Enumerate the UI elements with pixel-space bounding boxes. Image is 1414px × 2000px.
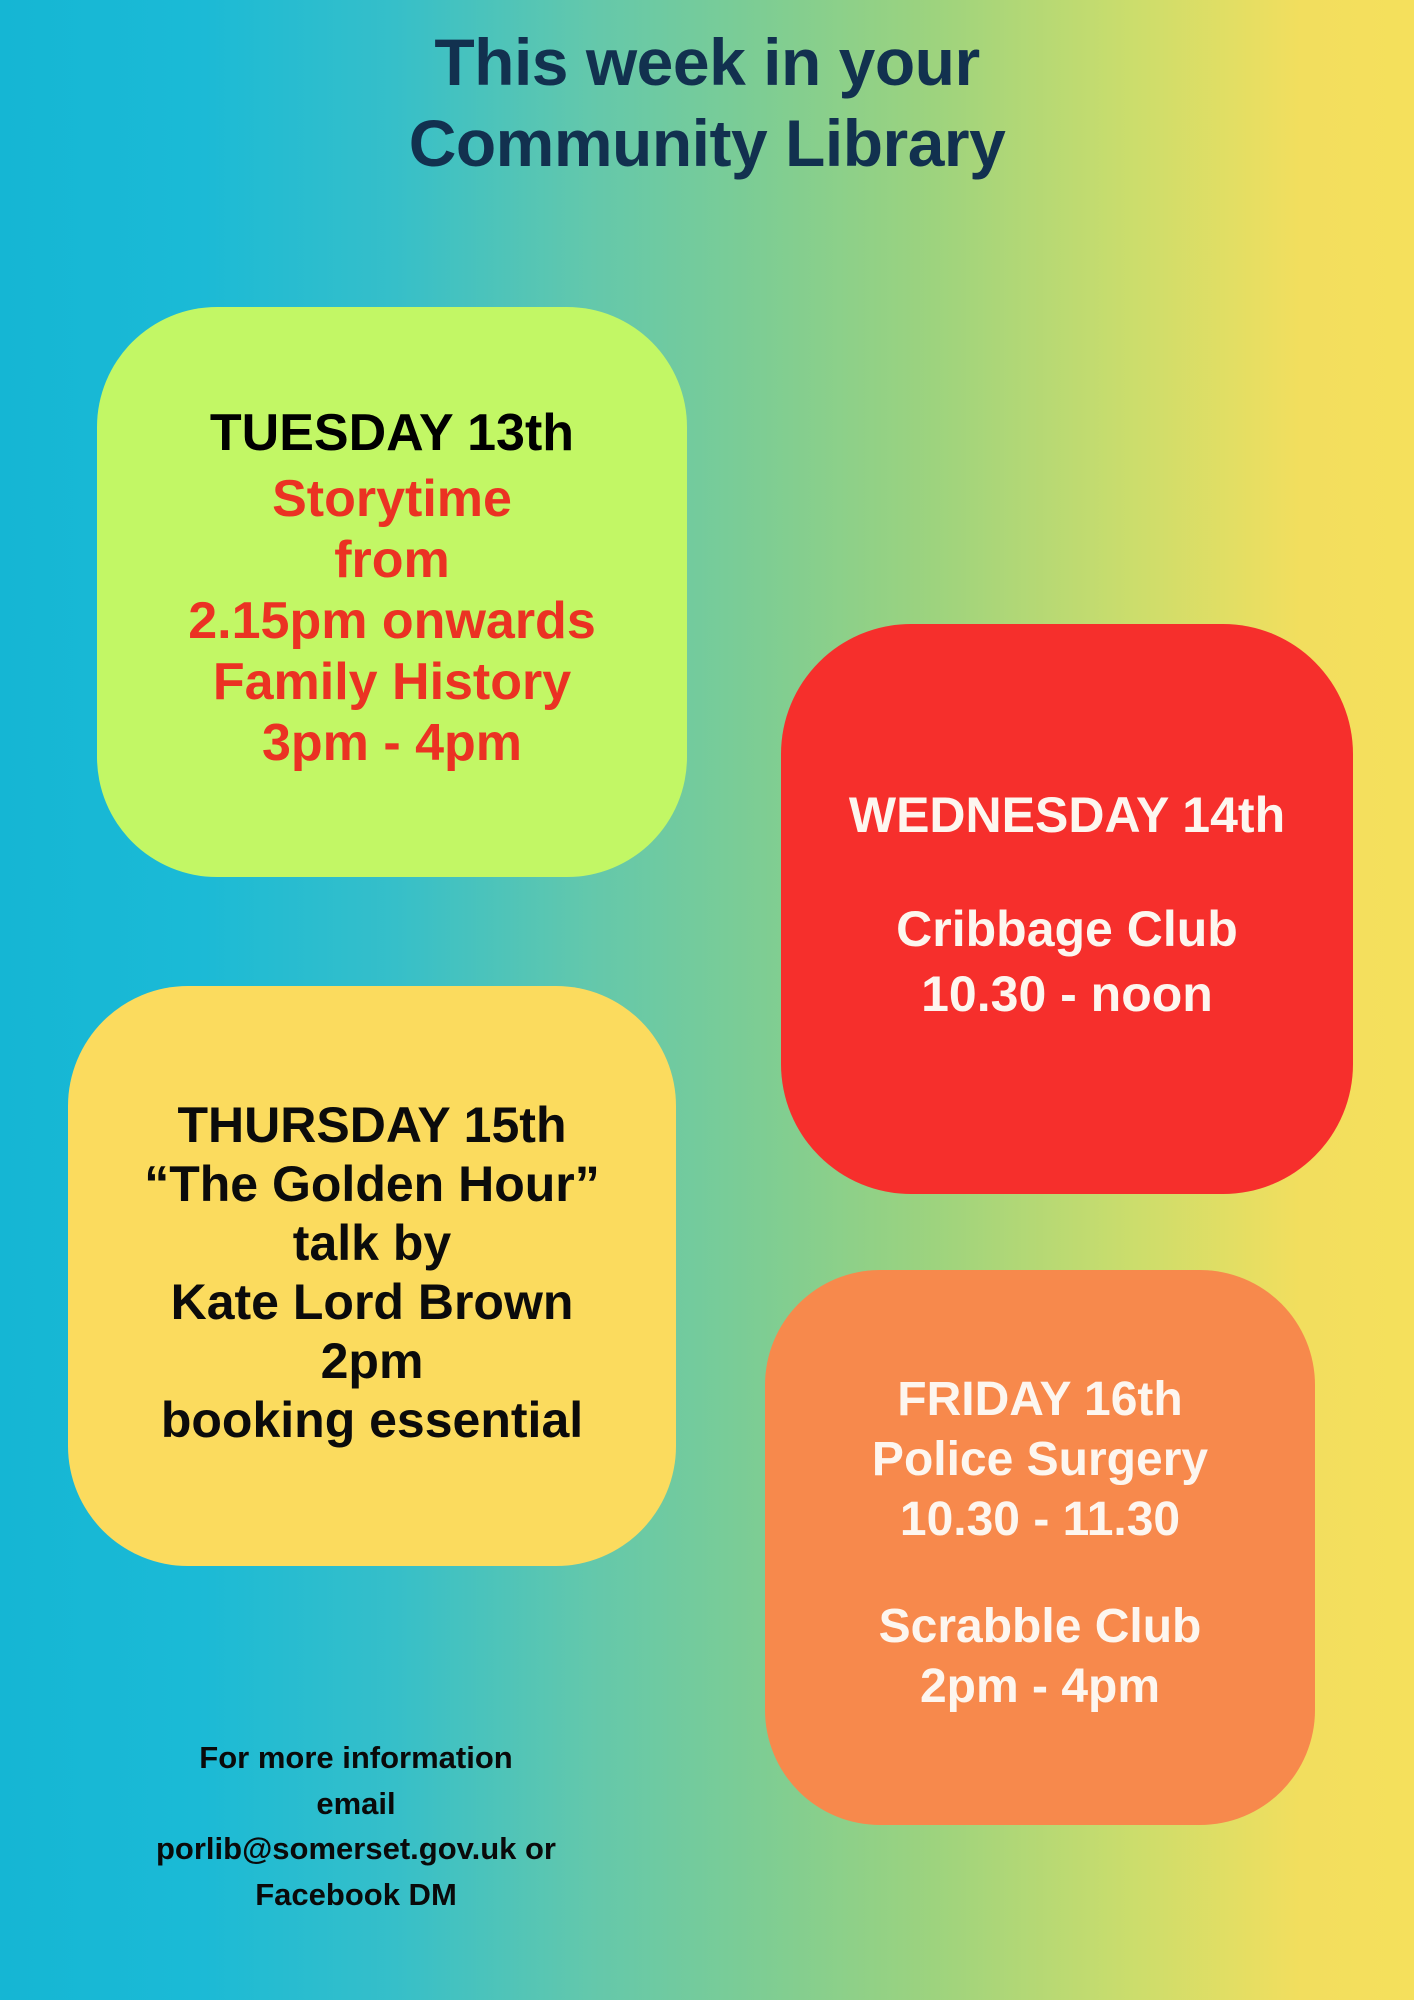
card-friday-day-label: FRIDAY 16th — [779, 1371, 1301, 1430]
card-tuesday-line-5: 3pm - 4pm — [117, 713, 667, 774]
title-line-2: Community Library — [0, 103, 1414, 184]
poster-canvas: This week in your Community Library TUES… — [0, 0, 1414, 2000]
card-tuesday-line-3: 2.15pm onwards — [117, 591, 667, 652]
card-friday-line-2: 10.30 - 11.30 — [779, 1490, 1301, 1550]
card-wednesday-line-1: Cribbage Club — [799, 897, 1335, 962]
footer-line-2: email — [96, 1781, 616, 1827]
card-tuesday-line-4: Family History — [117, 652, 667, 713]
title-line-1: This week in your — [0, 22, 1414, 103]
card-thursday-line-5: booking essential — [82, 1391, 662, 1450]
event-card-tuesday: TUESDAY 13th Storytime from 2.15pm onwar… — [97, 307, 687, 877]
footer-line-1: For more information — [96, 1735, 616, 1781]
page-title: This week in your Community Library — [0, 22, 1414, 183]
event-card-friday: FRIDAY 16th Police Surgery 10.30 - 11.30… — [765, 1270, 1315, 1825]
event-card-thursday: THURSDAY 15th “The Golden Hour” talk by … — [68, 986, 676, 1566]
card-tuesday-line-1: Storytime — [117, 469, 667, 530]
card-tuesday-day-label: TUESDAY 13th — [117, 403, 667, 464]
card-thursday-line-4: 2pm — [82, 1332, 662, 1391]
card-thursday-line-2: talk by — [82, 1214, 662, 1273]
contact-footer: For more information email porlib@somers… — [96, 1735, 616, 1917]
card-friday-line-1: Police Surgery — [779, 1430, 1301, 1490]
card-thursday-line-3: Kate Lord Brown — [82, 1273, 662, 1332]
footer-email-address: porlib@somerset.gov.uk or — [96, 1826, 616, 1872]
card-thursday-line-1: “The Golden Hour” — [82, 1155, 662, 1214]
card-thursday-day-label: THURSDAY 15th — [82, 1096, 662, 1155]
card-friday-line-4: 2pm - 4pm — [779, 1657, 1301, 1717]
card-friday-line-3: Scrabble Club — [779, 1597, 1301, 1657]
footer-line-4: Facebook DM — [96, 1872, 616, 1918]
card-wednesday-line-2: 10.30 - noon — [799, 962, 1335, 1027]
card-wednesday-day-label: WEDNESDAY 14th — [799, 786, 1335, 845]
card-tuesday-line-2: from — [117, 530, 667, 591]
event-card-wednesday: WEDNESDAY 14th Cribbage Club 10.30 - noo… — [781, 624, 1353, 1194]
